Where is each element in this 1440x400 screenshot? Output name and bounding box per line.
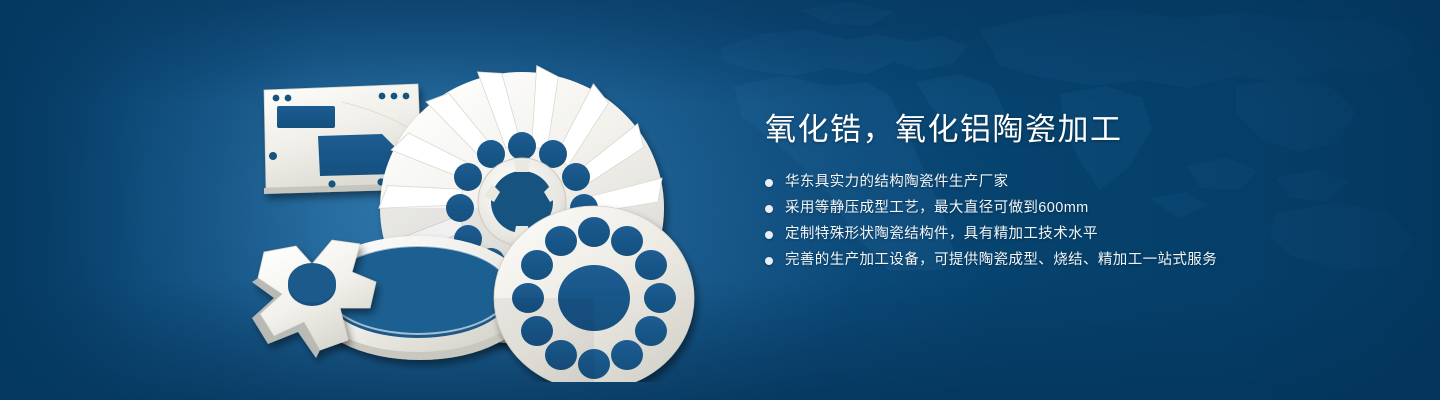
product-photo [222,38,708,382]
list-item: 定制特殊形状陶瓷结构件，具有精加工技术水平 [765,224,1365,245]
hero-banner: 氧化锆，氧化铝陶瓷加工 华东具实力的结构陶瓷件生产厂家 采用等静压成型工艺，最大… [0,0,1440,400]
banner-copy: 氧化锆，氧化铝陶瓷加工 华东具实力的结构陶瓷件生产厂家 采用等静压成型工艺，最大… [765,110,1365,276]
ceramic-perforated-disc [494,206,694,382]
feature-text: 定制特殊形状陶瓷结构件，具有精加工技术水平 [785,224,1098,245]
bullet-dot-icon [765,179,773,187]
feature-text: 华东具实力的结构陶瓷件生产厂家 [785,172,1009,193]
page-title: 氧化锆，氧化铝陶瓷加工 [765,110,1365,150]
list-item: 华东具实力的结构陶瓷件生产厂家 [765,172,1365,193]
list-item: 采用等静压成型工艺，最大直径可做到600mm [765,198,1365,219]
bullet-dot-icon [765,257,773,265]
bullet-dot-icon [765,205,773,213]
feature-text: 完善的生产加工设备，可提供陶瓷成型、烧结、精加工一站式服务 [785,250,1217,271]
feature-list: 华东具实力的结构陶瓷件生产厂家 采用等静压成型工艺，最大直径可做到600mm 定… [765,172,1365,271]
list-item: 完善的生产加工设备，可提供陶瓷成型、烧结、精加工一站式服务 [765,250,1365,271]
bullet-dot-icon [765,231,773,239]
feature-text: 采用等静压成型工艺，最大直径可做到600mm [785,198,1089,219]
